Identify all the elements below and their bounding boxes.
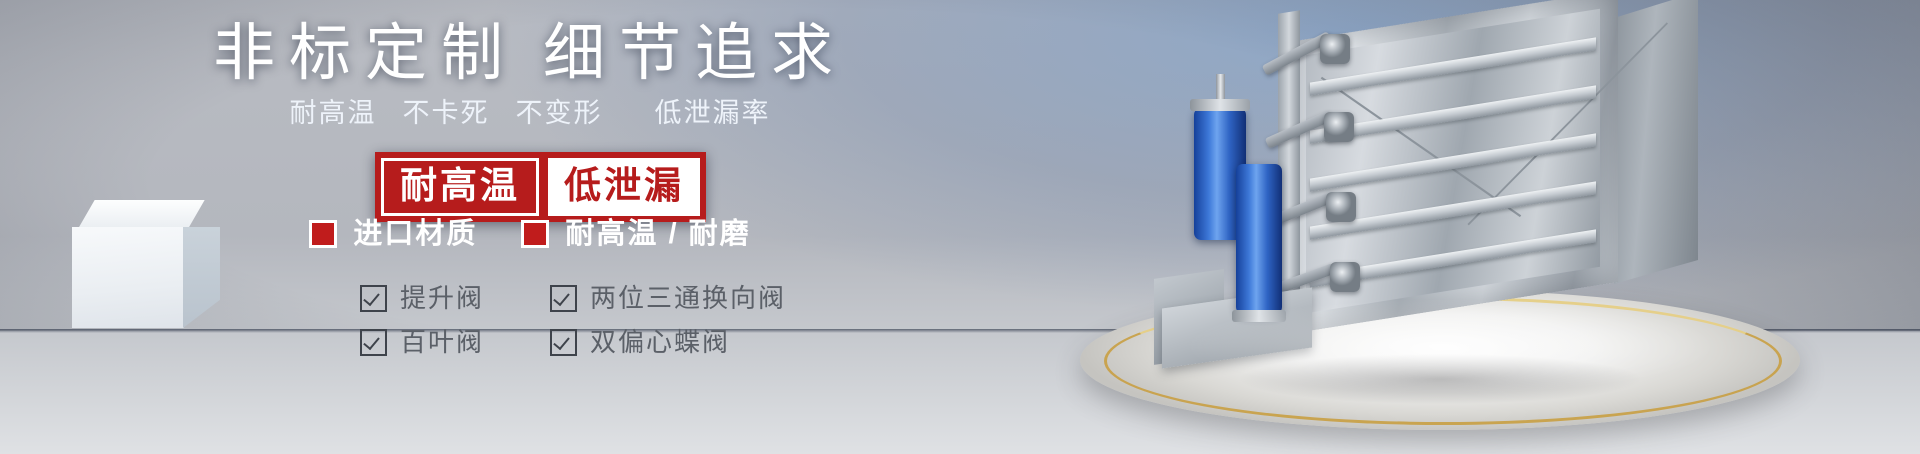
hydraulic-actuator	[1180, 108, 1320, 324]
subtitle-item-1: 耐高温	[290, 98, 377, 128]
banner-text-block: 非标定制细节追求 耐高温不卡死不变形低泄漏率 耐高温 低泄漏 进口材质 耐高温 …	[0, 0, 1060, 454]
checklist-label: 双偏心蝶阀	[590, 327, 730, 357]
shaft-bearing	[1320, 34, 1350, 64]
damper-side-panel	[1614, 0, 1698, 284]
checkbox-checked-icon	[360, 285, 387, 312]
shaft-bearing	[1330, 262, 1360, 292]
feature-label: 耐高温 / 耐磨	[565, 218, 750, 250]
checklist-row: 百叶阀 双偏心蝶阀	[360, 327, 920, 357]
promo-banner: 非标定制细节追求 耐高温不卡死不变形低泄漏率 耐高温 低泄漏 进口材质 耐高温 …	[0, 0, 1920, 454]
feature-label: 进口材质	[353, 218, 477, 250]
checklist-label: 提升阀	[400, 283, 484, 313]
subtitle-item-3: 不变形	[516, 98, 603, 128]
headline-part-2: 细节追求	[543, 19, 847, 88]
subtitle: 耐高温不卡死不变形低泄漏率	[0, 95, 1060, 131]
headline-part-1: 非标定制	[213, 19, 517, 88]
badge-segment-heat: 耐高温	[381, 158, 539, 216]
list-item: 提升阀	[360, 283, 550, 313]
badge-segment-leak: 低泄漏	[548, 158, 700, 216]
checkbox-checked-icon	[550, 329, 577, 356]
list-item: 百叶阀	[360, 327, 550, 357]
product-checklist: 提升阀 两位三通换向阀 百叶阀 双偏心蝶阀	[360, 283, 920, 371]
page-title: 非标定制细节追求	[0, 18, 1060, 90]
checklist-label: 两位三通换向阀	[590, 283, 786, 313]
checklist-row: 提升阀 两位三通换向阀	[360, 283, 920, 313]
shaft-bearing	[1324, 112, 1354, 142]
cylinder-cap	[1232, 310, 1286, 322]
cylinder-cap	[1190, 99, 1250, 111]
highlight-badge: 耐高温 低泄漏	[375, 152, 706, 222]
feature-item-heat-wear: 耐高温 / 耐磨	[521, 218, 750, 250]
red-square-icon	[309, 220, 337, 248]
red-square-icon	[521, 220, 549, 248]
subtitle-item-4: 低泄漏率	[655, 98, 771, 128]
feature-row: 进口材质 耐高温 / 耐磨	[0, 218, 1060, 250]
subtitle-item-2: 不卡死	[403, 98, 490, 128]
checkbox-checked-icon	[550, 285, 577, 312]
list-item: 两位三通换向阀	[550, 283, 786, 313]
shaft-bearing	[1326, 192, 1356, 222]
product-scene	[1020, 0, 1920, 454]
actuator-cylinder	[1236, 164, 1282, 314]
checklist-label: 百叶阀	[400, 327, 484, 357]
list-item: 双偏心蝶阀	[550, 327, 730, 357]
feature-item-material: 进口材质	[309, 218, 477, 250]
checkbox-checked-icon	[360, 329, 387, 356]
